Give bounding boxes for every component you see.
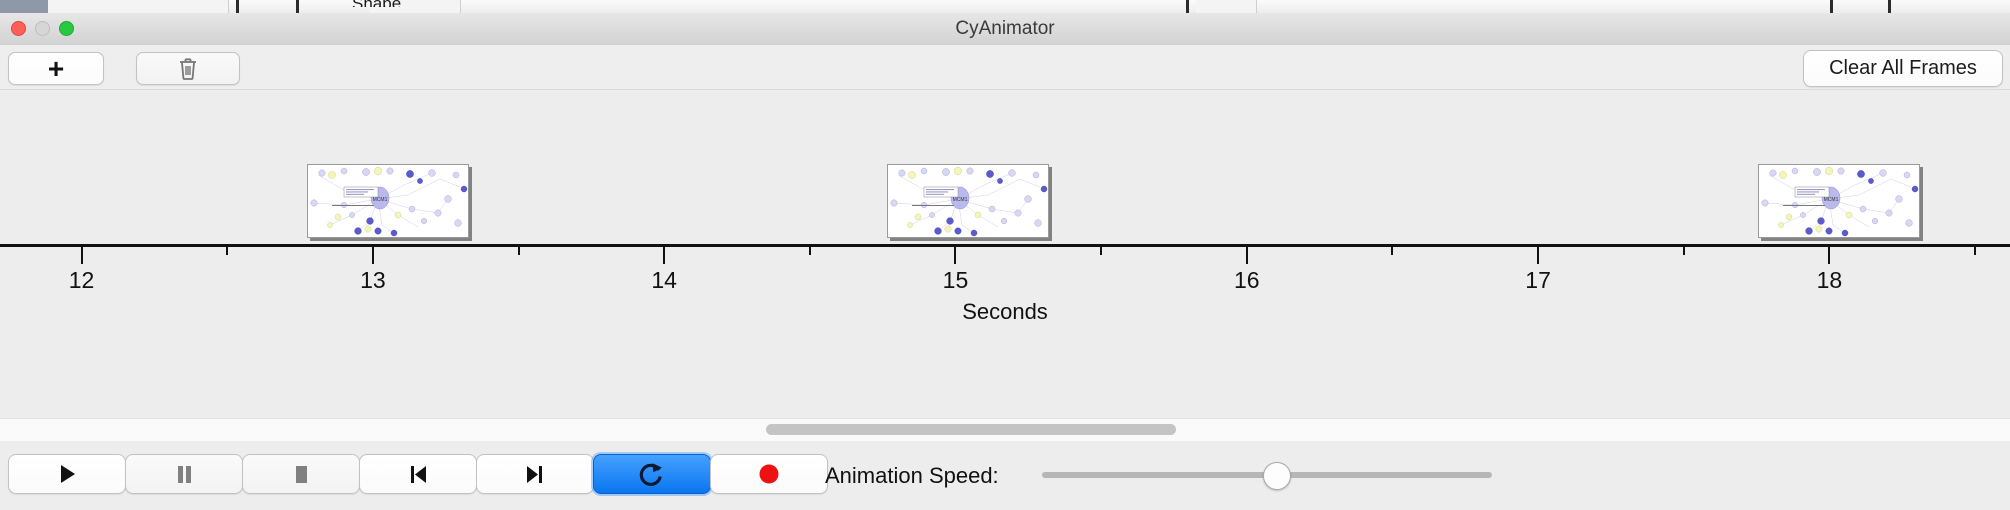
pause-icon: [171, 461, 197, 487]
tick-major: [372, 244, 374, 264]
frame-thumbnail[interactable]: MCM1: [1758, 164, 1920, 238]
scrollbar-thumb[interactable]: [766, 424, 1176, 435]
stop-button[interactable]: [242, 454, 360, 494]
record-button[interactable]: [710, 454, 828, 494]
network-graph-preview: MCM1: [1759, 165, 1919, 237]
background-window-strip: Shape: [0, 0, 2010, 14]
skip-end-button[interactable]: [476, 454, 594, 494]
tick-minor: [1100, 244, 1102, 255]
tick-label: 16: [1234, 267, 1260, 294]
toolbar: + Clear All Frames: [0, 45, 2010, 90]
trash-icon: [177, 57, 199, 81]
stop-icon: [288, 461, 314, 487]
bg-divider: [1186, 0, 1189, 13]
tick-major: [81, 244, 83, 264]
tick-label: 18: [1817, 267, 1843, 294]
bg-divider: [1830, 0, 1833, 13]
tick-minor: [1391, 244, 1393, 255]
animation-speed-label: Animation Speed:: [825, 463, 999, 489]
tick-label: 15: [943, 267, 969, 294]
tick-major: [1537, 244, 1539, 264]
record-icon: [756, 461, 782, 487]
play-icon: [54, 461, 80, 487]
tick-major: [1246, 244, 1248, 264]
pause-button[interactable]: [125, 454, 243, 494]
tick-minor: [1683, 244, 1685, 255]
animation-speed-slider-thumb[interactable]: [1263, 462, 1291, 490]
tick-label: 14: [651, 267, 677, 294]
bg-divider: [236, 0, 239, 13]
tick-minor: [226, 244, 228, 255]
clear-all-frames-button[interactable]: Clear All Frames: [1803, 50, 2003, 87]
svg-text:MCM1: MCM1: [373, 197, 388, 203]
clear-all-frames-label: Clear All Frames: [1829, 57, 1977, 80]
tick-label: 12: [69, 267, 95, 294]
svg-text:MCM1: MCM1: [1824, 197, 1839, 203]
playback-control-bar: Animation Speed:: [0, 441, 2010, 510]
axis-title: Seconds: [0, 299, 2010, 325]
frame-thumbnail[interactable]: MCM1: [307, 164, 469, 238]
bg-tab: [168, 0, 229, 13]
tick-major: [663, 244, 665, 264]
bg-tab: [1196, 0, 1257, 13]
tick-minor: [1974, 244, 1976, 255]
bg-tab-selected: [0, 0, 49, 13]
skip-back-icon: [405, 461, 431, 487]
background-window-label: Shape: [352, 0, 401, 7]
tick-minor: [518, 244, 520, 255]
network-graph-preview: MCM1: [888, 165, 1048, 237]
title-bar[interactable]: CyAnimator: [0, 13, 2010, 46]
add-frame-button[interactable]: +: [8, 52, 104, 85]
tick-label: 13: [360, 267, 386, 294]
bg-divider: [296, 0, 299, 13]
skip-forward-icon: [522, 461, 548, 487]
timeline-top-divider: [0, 89, 2010, 90]
play-button[interactable]: [8, 454, 126, 494]
timeline-ruler-line: [0, 244, 2010, 247]
tick-major: [954, 244, 956, 264]
cyanimator-window: Shape CyAnimator + Clear All Frames: [0, 0, 2010, 510]
delete-frame-button[interactable]: [136, 52, 240, 85]
timeline-panel[interactable]: MCM1: [0, 89, 2010, 418]
frame-thumbnail[interactable]: MCM1: [887, 164, 1049, 238]
timeline-scrollbar[interactable]: [0, 418, 2010, 442]
tick-label: 17: [1525, 267, 1551, 294]
loop-icon: [638, 460, 666, 488]
bg-divider: [1888, 0, 1891, 13]
network-graph-preview: MCM1: [308, 165, 468, 237]
window-title: CyAnimator: [0, 18, 2010, 40]
plus-icon: +: [48, 55, 64, 83]
skip-start-button[interactable]: [359, 454, 477, 494]
loop-button[interactable]: [593, 454, 711, 494]
bg-tab: [48, 0, 169, 13]
tick-minor: [809, 244, 811, 255]
tick-major: [1828, 244, 1830, 264]
svg-text:MCM1: MCM1: [953, 197, 968, 203]
